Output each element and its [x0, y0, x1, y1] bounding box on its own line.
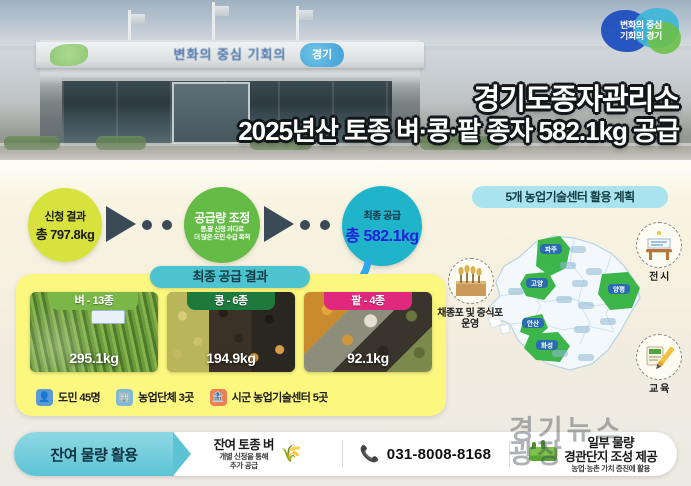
crop-tag-rice: 벼 - 13종	[50, 292, 138, 310]
sign-leaf-graphic	[50, 44, 88, 66]
crop-weight-rice: 295.1kg	[30, 350, 158, 366]
flow-node-adjust: 공급량 조정 콩,팥 신청 과다로 더 많은 도민 수급 목적	[184, 187, 260, 263]
crop-weight-redbean: 92.1kg	[304, 350, 432, 366]
badge-organizations-label: 농업단체 3곳	[138, 389, 194, 405]
landscape-sub-1: 경관단지 조성 제공	[564, 450, 657, 464]
crop-card-bean: 콩 - 6종 194.9kg	[167, 292, 295, 372]
final-value: 총 582.1kg	[345, 222, 418, 246]
apply-label: 신청 결과	[44, 208, 85, 224]
landscape-sub-2: 농업·농촌 가치 증진에 활용	[564, 464, 657, 473]
crop-card-rice: 벼 - 13종 295.1kg	[30, 292, 158, 372]
seed-field-label: 채종포 및 증식포 운영	[424, 308, 516, 330]
banner-heading: 잔여 물량 활용	[14, 432, 174, 476]
landscape-title: 일부 물량	[564, 436, 657, 450]
phone-icon: 📞	[360, 444, 380, 464]
gyeonggi-emblem: 변화의 중심 기회의 경기	[599, 6, 683, 56]
page-title: 경기도종자관리소 2025년산 토종 벼·콩·팥 종자 582.1kg 공급	[159, 84, 679, 146]
badge-organizations: 🏢 농업단체 3곳	[116, 389, 194, 406]
flow-dot	[142, 220, 152, 230]
headline-line-2: 2025년산 토종 벼·콩·팥 종자 582.1kg 공급	[159, 116, 679, 146]
headline-line-1: 경기도종자관리소	[159, 84, 679, 116]
badge-residents-label: 도민 45명	[58, 389, 100, 405]
svg-text:고양: 고양	[531, 279, 543, 288]
seed-field-icon	[448, 258, 494, 304]
person-icon: 👤	[36, 389, 53, 406]
crop-tag-bean: 콩 - 6종	[187, 292, 275, 310]
building-icon: 🏢	[116, 389, 133, 406]
flow-dot	[162, 220, 172, 230]
badge-centers-label: 시군 농업기술센터 5곳	[232, 389, 328, 405]
map-title: 5개 농업기술센터 활용 계획	[472, 186, 668, 208]
panel-title: 최종 공급 결과	[150, 266, 310, 288]
badge-residents: 👤 도민 45명	[36, 389, 100, 406]
flow-dot	[300, 220, 310, 230]
infographic-poster: 변화의 중심 기회의 경기 변화의 중심 기회의 경기 경기도종자관리소 202…	[0, 0, 691, 486]
bottom-banner: 잔여 물량 활용 잔여 토종 벼 개별 신청을 통해 추가 공급 🌾 📞 031…	[14, 432, 677, 476]
banner-cell-contact[interactable]: 📞 031-8008-8168	[342, 432, 510, 476]
final-label: 최종 공급	[363, 207, 400, 222]
building-sign-badge: 경기	[300, 43, 344, 67]
crop-card-list: 벼 - 13종 295.1kg 콩 - 6종 194.9kg 팥 - 4종 92…	[30, 292, 434, 372]
exhibit-label: 전 시	[613, 272, 691, 283]
wheat-icon: 🌾	[281, 444, 302, 464]
emblem-line-2: 기회의 경기	[599, 31, 683, 42]
gyeonggi-map: 파주 고양 양평 안산 화성	[474, 214, 660, 382]
flow-node-apply: 신청 결과 총 797.8kg	[28, 188, 102, 262]
banner-cell-landscape: 일부 물량 경관단지 조성 제공 농업·농촌 가치 증진에 활용	[509, 432, 677, 476]
svg-text:안산: 안산	[527, 319, 539, 328]
education-icon	[636, 334, 682, 380]
supply-flow-diagram: 신청 결과 총 797.8kg 공급량 조정 콩,팥 신청 과다로 더 많은 도…	[14, 186, 444, 264]
adjust-note-1: 콩,팥 신청 과다로	[200, 226, 243, 234]
landscape-icon	[529, 447, 557, 461]
landscape-text: 일부 물량 경관단지 조성 제공 농업·농촌 가치 증진에 활용	[564, 436, 657, 473]
svg-text:화성: 화성	[541, 341, 553, 350]
badge-centers: 🏦 시군 농업기술센터 5곳	[210, 389, 328, 406]
svg-text:파주: 파주	[545, 245, 557, 254]
banner-cell-remaining-rice: 잔여 토종 벼 개별 신청을 통해 추가 공급 🌾	[174, 432, 342, 476]
map-section: 5개 농업기술센터 활용 계획	[446, 186, 689, 418]
emblem-line-1: 변화의 중심	[599, 20, 683, 31]
apply-value: 총 797.8kg	[36, 224, 95, 243]
flow-arrow-icon	[106, 206, 136, 242]
svg-text:양평: 양평	[613, 285, 625, 294]
exhibit-icon	[636, 222, 682, 268]
rice-field-label-plate	[91, 310, 125, 324]
education-label: 교 육	[613, 384, 691, 395]
flow-arrow-icon	[264, 206, 294, 242]
recipient-badge-list: 👤 도민 45명 🏢 농업단체 3곳 🏦 시군 농업기술센터 5곳	[36, 386, 432, 408]
adjust-note-2: 더 많은 도민 수급 목적	[194, 234, 250, 242]
crop-card-redbean: 팥 - 4종 92.1kg	[304, 292, 432, 372]
flow-dot	[320, 220, 330, 230]
remaining-rice-sub-1: 개별 신청을 통해	[214, 452, 274, 461]
contact-phone-number[interactable]: 031-8008-8168	[387, 446, 491, 463]
remaining-rice-title: 잔여 토종 벼	[214, 438, 274, 452]
emblem-text: 변화의 중심 기회의 경기	[599, 20, 683, 42]
crop-tag-redbean: 팥 - 4종	[324, 292, 412, 310]
crop-weight-bean: 194.9kg	[167, 350, 295, 366]
adjust-label: 공급량 조정	[194, 209, 250, 226]
center-icon: 🏦	[210, 389, 227, 406]
remaining-rice-text: 잔여 토종 벼 개별 신청을 통해 추가 공급	[214, 438, 274, 470]
remaining-rice-sub-2: 추가 공급	[214, 461, 274, 470]
flow-node-final: 최종 공급 총 582.1kg	[342, 186, 422, 266]
